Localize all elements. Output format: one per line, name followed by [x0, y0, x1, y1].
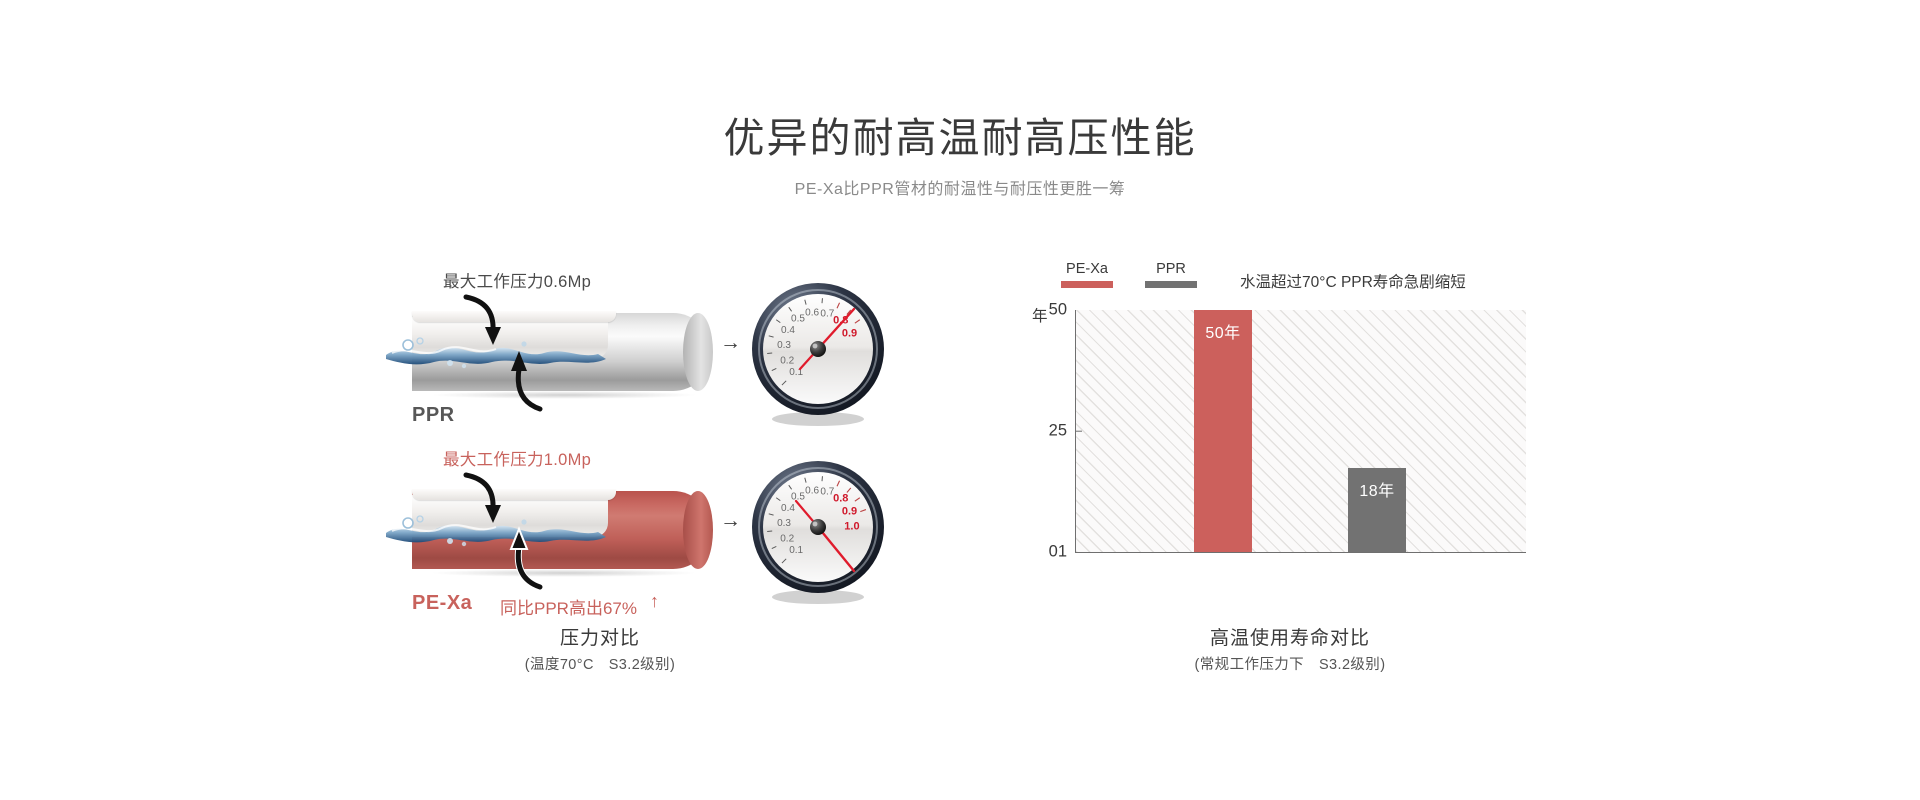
pressure-caption-sub: (温度70°C S3.2级别) — [390, 654, 810, 677]
svg-text:0.6: 0.6 — [805, 486, 819, 497]
material-name-ppr: PPR — [412, 404, 455, 427]
pressure-caption-main: 压力对比 — [390, 625, 810, 654]
callout-arrow-up-icon — [506, 523, 566, 589]
lifespan-chart-panel: PE-Xa PPR 水温超过70°C PPR寿命急剧缩短 年 50 25 01 — [1040, 260, 1560, 620]
lifespan-caption: 高温使用寿命对比 (常规工作压力下 S3.2级别) — [1080, 625, 1500, 677]
gain-up-arrow-icon: ↑ — [650, 591, 659, 612]
y-tick-01: 01 — [1049, 543, 1076, 562]
chart-legend: PE-Xa PPR — [1058, 260, 1200, 288]
y-tick-25-label: 25 — [1049, 422, 1067, 440]
pressure-comparison-panel: 最大工作压力0.6Mp — [390, 280, 930, 680]
svg-text:0.9: 0.9 — [842, 327, 857, 339]
chart-annotation: 水温超过70°C PPR寿命急剧缩短 — [1240, 270, 1466, 292]
pipe-end-cap — [683, 313, 713, 391]
y-tick-50: 50 — [1049, 301, 1076, 320]
svg-text:0.6: 0.6 — [805, 308, 819, 319]
flow-arrow-icon: → — [720, 332, 741, 353]
y-tick-mark — [1076, 430, 1082, 432]
legend-swatch-pexa — [1061, 281, 1113, 288]
bar-label-pexa: 50年 — [1194, 319, 1252, 343]
svg-text:0.2: 0.2 — [780, 355, 794, 366]
poster-canvas: 优异的耐高温耐高压性能 PE-Xa比PPR管材的耐温性与耐压性更胜一筹 最大工作… — [0, 0, 1920, 800]
y-tick-25: 25 — [1049, 422, 1076, 441]
legend-item-ppr: PPR — [1142, 260, 1200, 288]
y-tick-50-label: 50 — [1049, 301, 1067, 319]
bar-pexa[interactable]: 50年 — [1194, 310, 1252, 552]
pressure-gauge-ppr: 0.1 0.2 0.3 0.4 0.5 0.6 0.7 0.8 0.9 — [742, 277, 894, 429]
y-axis-unit-label: 年 — [1032, 304, 1048, 326]
lifespan-caption-sub: (常规工作压力下 S3.2级别) — [1080, 654, 1500, 677]
pipe-illustration-ppr — [412, 305, 712, 397]
pipe-end-cap — [683, 491, 713, 569]
legend-label-ppr: PPR — [1156, 260, 1186, 278]
svg-text:0.3: 0.3 — [777, 518, 791, 529]
chart-plot-area: 50 25 01 50年 18年 — [1075, 310, 1526, 553]
bar-label-ppr: 18年 — [1348, 477, 1406, 501]
pipe-illustration-pexa — [412, 483, 712, 575]
bar-ppr[interactable]: 18年 — [1348, 468, 1406, 552]
pressure-caption: 压力对比 (温度70°C S3.2级别) — [390, 625, 810, 677]
page-subtitle: PE-Xa比PPR管材的耐温性与耐压性更胜一筹 — [0, 182, 1920, 198]
svg-text:1.0: 1.0 — [844, 520, 859, 532]
svg-text:0.4: 0.4 — [781, 325, 795, 336]
legend-swatch-ppr — [1145, 281, 1197, 288]
callout-arrow-up-icon — [506, 345, 566, 411]
legend-label-pexa: PE-Xa — [1066, 260, 1108, 278]
pressure-gauge-pexa: 0.1 0.2 0.3 0.4 0.5 0.6 0.7 0.8 0.9 1.0 — [742, 455, 894, 607]
pipe-row-pexa: 最大工作压力1.0Mp — [390, 458, 930, 608]
svg-text:0.5: 0.5 — [791, 313, 805, 324]
y-tick-01-label: 01 — [1049, 543, 1067, 561]
svg-text:0.8: 0.8 — [833, 493, 848, 505]
svg-text:0.4: 0.4 — [781, 503, 795, 514]
pressure-label-pexa: 最大工作压力1.0Mp — [443, 446, 591, 470]
legend-item-pexa: PE-Xa — [1058, 260, 1116, 288]
svg-text:0.2: 0.2 — [780, 533, 794, 544]
svg-text:0.3: 0.3 — [777, 340, 791, 351]
svg-text:0.1: 0.1 — [789, 545, 803, 556]
svg-text:0.5: 0.5 — [791, 491, 805, 502]
material-name-pexa: PE-Xa — [412, 592, 472, 615]
lifespan-caption-main: 高温使用寿命对比 — [1080, 625, 1500, 654]
flow-arrow-icon: → — [720, 510, 741, 531]
svg-text:0.9: 0.9 — [842, 505, 857, 517]
pressure-label-ppr: 最大工作压力0.6Mp — [443, 268, 591, 292]
pipe-row-ppr: 最大工作压力0.6Mp — [390, 280, 930, 430]
page-title: 优异的耐高温耐高压性能 — [0, 118, 1920, 159]
gain-note: 同比PPR高出67% — [500, 594, 637, 619]
